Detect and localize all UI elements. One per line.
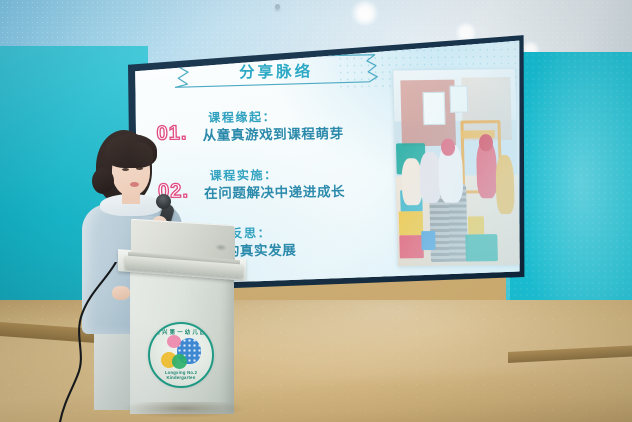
photo-child-hat <box>479 134 493 152</box>
list-item-heading: 课程缘起： <box>208 108 408 126</box>
downlight-icon <box>350 0 380 26</box>
emblem-english-text: Longxing No.2 Kindergarten <box>150 370 212 380</box>
list-item-subheading: 在问题解决中递进成长 <box>204 182 410 202</box>
laptop-badge <box>215 244 227 252</box>
presenter-hair-bun <box>92 168 114 194</box>
photo-foam-block <box>422 231 436 251</box>
presenter-fringe <box>127 142 153 166</box>
kindergarten-emblem: 龙兴第一幼儿园 Longxing No.2 Kindergarten <box>148 322 214 388</box>
slide-photo <box>393 69 520 267</box>
photo-child-hat <box>441 138 455 156</box>
list-item: 01. 课程缘起： 从童真游戏到课程萌芽 <box>156 108 409 153</box>
photo-window <box>450 85 469 113</box>
podium-floor-shadow <box>124 402 244 418</box>
photo-window <box>423 91 445 125</box>
emblem-chinese-text: 龙兴第一幼儿园 <box>150 328 212 336</box>
presenter-eye <box>136 167 143 170</box>
emblem-pink-shape <box>167 335 181 348</box>
photo-foam-block <box>399 211 423 235</box>
emblem-artwork <box>161 338 201 368</box>
sprinkler-icon <box>275 4 280 9</box>
photo-storage-bin <box>466 234 498 262</box>
presenter-mouth <box>130 182 139 187</box>
presenter-eye <box>122 168 129 171</box>
list-item: 02. 课程实施： 在问题解决中递进成长 <box>158 166 411 211</box>
microphone-cable <box>20 262 140 422</box>
list-item-subheading: 从童真游戏到课程萌芽 <box>202 124 408 144</box>
photo-child <box>495 155 515 214</box>
emblem-green-shape <box>172 354 187 369</box>
photo-foam-block <box>468 216 484 234</box>
presentation-room-scene: 分享脉络 01. 课程缘起： 从童真游戏到课程萌芽 02. 课程 <box>0 0 632 422</box>
open-laptop[interactable] <box>125 222 243 274</box>
photo-foam-block <box>400 235 424 259</box>
list-item-heading: 课程实施： <box>210 166 410 184</box>
